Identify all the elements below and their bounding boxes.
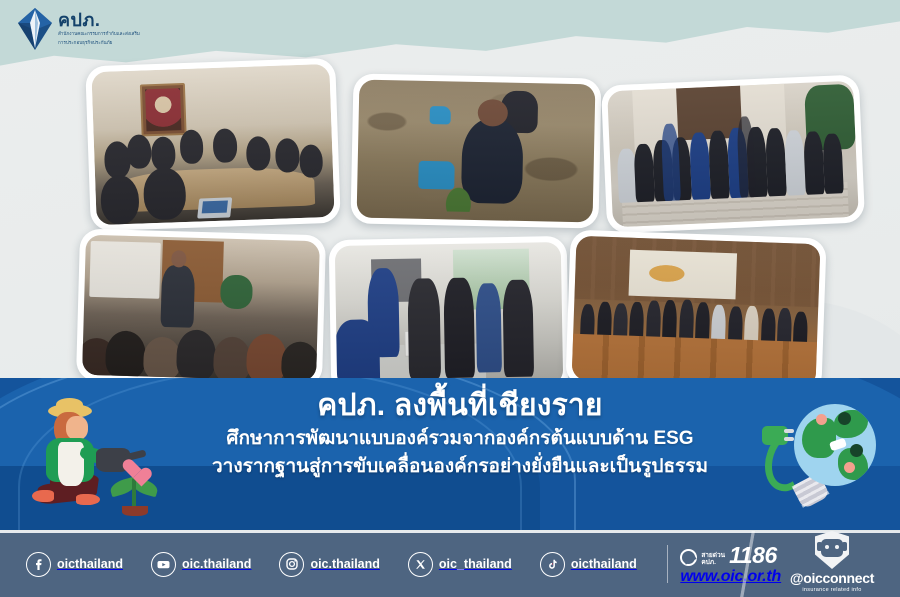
- photo-meeting-room: [85, 58, 341, 232]
- banner-text-block: คปภ. ลงพื้นที่เชียงราย ศึกษาการพัฒนาแบบอ…: [150, 388, 770, 480]
- presentation-screen: [628, 249, 737, 299]
- presenter: [161, 265, 195, 327]
- indoor-plant: [220, 275, 254, 309]
- social-link-youtube[interactable]: oic.thailand: [151, 552, 251, 577]
- doorway: [676, 86, 742, 140]
- facebook-icon: [26, 552, 51, 577]
- meeting-attendees: [91, 64, 334, 225]
- group-members: [613, 105, 853, 202]
- photo-group-hall: [565, 230, 826, 395]
- oic-logo-acronym: คปภ.: [58, 11, 140, 29]
- youtube-icon: [151, 552, 176, 577]
- office-window: [452, 248, 530, 309]
- oic-logo: คปภ. สำนักงานคณะกรรมการกำกับและส่งเสริม …: [18, 8, 140, 50]
- conference-table: [114, 165, 315, 212]
- projection-screen: [89, 240, 161, 298]
- wood-paneling: [574, 236, 820, 308]
- oic-diamond-gem-icon: [18, 8, 52, 50]
- globe-lightbulb-plug-icon: [760, 400, 888, 526]
- visitor-1: [408, 278, 441, 379]
- tiktok-icon: [540, 552, 565, 577]
- building-facade: [632, 84, 787, 161]
- watering-can-far: [429, 106, 451, 124]
- instagram-icon: [279, 552, 304, 577]
- visitor-4: [503, 280, 534, 378]
- social-link-instagram[interactable]: oic.thailand: [279, 552, 379, 577]
- oicconnect-chatbot-shield-icon: [815, 531, 849, 569]
- watering-can-near: [419, 161, 455, 189]
- seedling: [437, 175, 480, 212]
- social-link-x-twitter[interactable]: oic_thailand: [408, 552, 512, 577]
- social-label-instagram: oic.thailand: [310, 557, 379, 571]
- audience: [82, 310, 318, 381]
- photo-seminar-talk: [76, 229, 326, 388]
- oicconnect-block: @oicconnect insurance related info: [778, 531, 886, 593]
- oic-logo-subtitle-line1: สำนักงานคณะกรรมการกำกับและส่งเสริม: [58, 31, 140, 38]
- footer-slash-divider: [714, 531, 784, 597]
- social-label-x-twitter: oic_thailand: [439, 557, 512, 571]
- portrait-frame: [139, 83, 186, 137]
- group-row: [577, 285, 813, 359]
- social-link-tiktok[interactable]: oicthailand: [540, 552, 637, 577]
- office-shelf: [371, 259, 421, 303]
- oicconnect-name: @oicconnect: [778, 571, 886, 585]
- document-stack: [404, 330, 436, 356]
- photo-tree-planting: [350, 73, 601, 228]
- garden-bush: [804, 83, 856, 150]
- social-links: oicthailand oic.thailand oic.thailand oi…: [0, 552, 665, 577]
- oic-logo-text: คปภ. สำนักงานคณะกรรมการกำกับและส่งเสริม …: [58, 11, 140, 46]
- banner-canvas: คปภ. สำนักงานคณะกรรมการกำกับและส่งเสริม …: [0, 0, 900, 597]
- page-title: คปภ. ลงพื้นที่เชียงราย: [150, 388, 770, 423]
- gardener-watering-plant-icon: [24, 398, 174, 526]
- oic-swirl-icon: [680, 549, 697, 566]
- social-label-facebook: oicthailand: [57, 557, 123, 571]
- banner-subtitle-1: ศึกษาการพัฒนาแบบองค์รวมจากองค์กรต้นแบบด้…: [150, 426, 770, 451]
- oic-logo-subtitle-line2: การประกอบธุรกิจประกันภัย: [58, 40, 140, 47]
- banner-subtitle-2: วางรากฐานสู่การขับเคลื่อนองค์กรอย่างยั่ง…: [150, 454, 770, 479]
- laptop: [198, 197, 233, 218]
- x-twitter-icon: [408, 552, 433, 577]
- volunteer-planting: [461, 118, 524, 205]
- social-label-tiktok: oicthailand: [571, 557, 637, 571]
- photo-collage: [0, 0, 900, 400]
- oicconnect-tagline: insurance related info: [778, 587, 886, 593]
- background-volunteer: [500, 91, 539, 133]
- footer-bar: oicthailand oic.thailand oic.thailand oi…: [0, 531, 900, 597]
- visitor-2: [444, 278, 475, 379]
- visitor-3: [476, 283, 502, 372]
- footer-vertical-divider: [667, 545, 669, 583]
- social-label-youtube: oic.thailand: [182, 557, 251, 571]
- wooden-door: [161, 240, 224, 303]
- photo-group-steps: [601, 74, 865, 233]
- soil-texture: [357, 80, 596, 223]
- social-link-facebook[interactable]: oicthailand: [26, 552, 123, 577]
- photo-office-visit: [329, 236, 570, 395]
- entrance-steps: [621, 182, 849, 227]
- staff-blue-shirt: [367, 268, 400, 357]
